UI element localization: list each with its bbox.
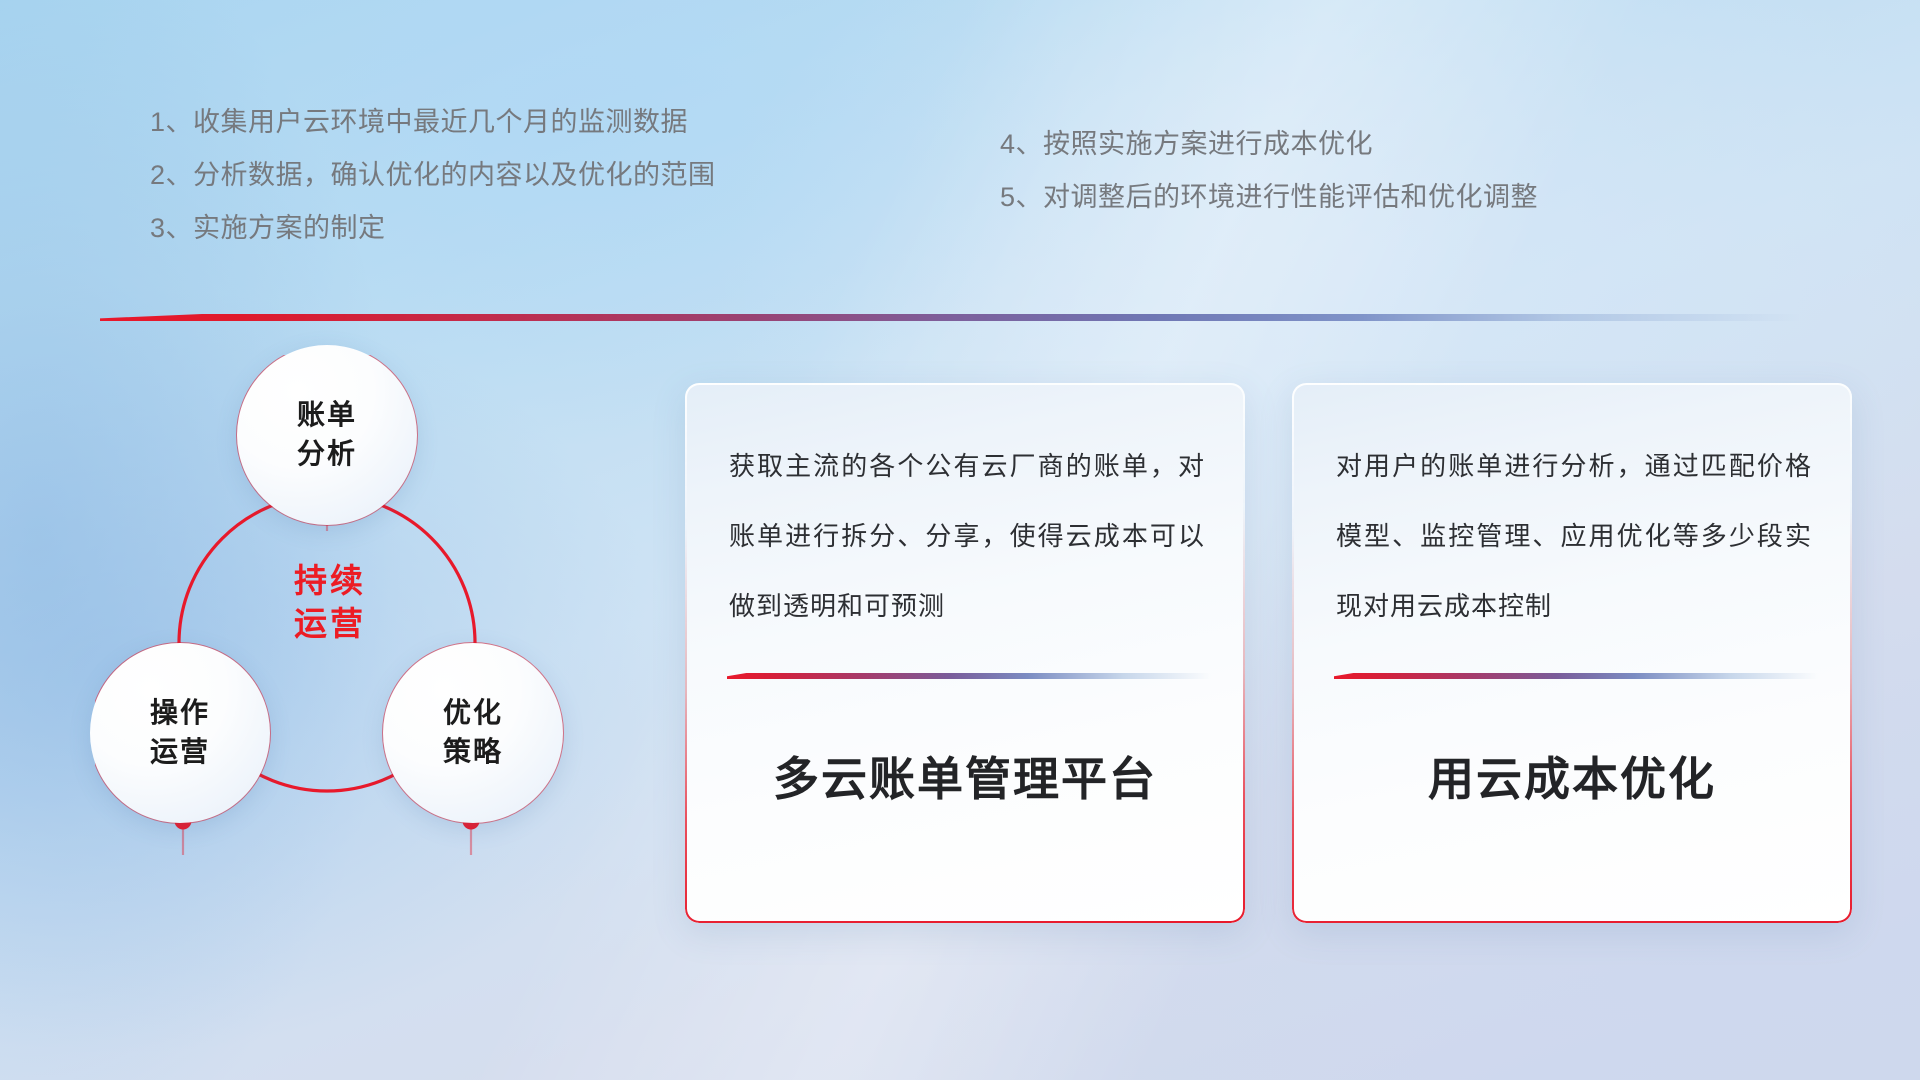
step-item: 4、按照实施方案进行成本优化 [1000,118,1760,171]
bubble-label-line2: 策略 [443,733,503,772]
bubble-optimization-strategy[interactable]: 优化 策略 [383,643,563,823]
slide-canvas: 1、收集用户云环境中最近几个月的监测数据 2、分析数据，确认优化的内容以及优化的… [0,0,1920,1080]
bubble-label-line1: 账单 [297,396,357,435]
step-item: 5、对调整后的环境进行性能评估和优化调整 [1000,171,1760,224]
card-title: 用云成本优化 [1292,743,1852,809]
bubble-label-line1: 操作 [150,694,210,733]
bubble-label-line2: 分析 [297,435,357,474]
card-divider [727,673,1211,679]
card-body-text: 对用户的账单进行分析，通过匹配价格模型、监控管理、应用优化等多少段实现对用云成本… [1336,431,1812,641]
step-item: 1、收集用户云环境中最近几个月的监测数据 [150,96,870,149]
feature-card-cost-optimization[interactable]: 对用户的账单进行分析，通过匹配价格模型、监控管理、应用优化等多少段实现对用云成本… [1292,383,1852,923]
center-label-line2: 运营 [255,603,405,646]
card-divider [1334,673,1818,679]
steps-list-left: 1、收集用户云环境中最近几个月的监测数据 2、分析数据，确认优化的内容以及优化的… [150,96,870,255]
card-title: 多云账单管理平台 [685,743,1245,809]
step-item: 3、实施方案的制定 [150,202,870,255]
bubble-billing-analysis[interactable]: 账单 分析 [237,345,417,525]
feature-card-multicloud-billing[interactable]: 获取主流的各个公有云厂商的账单，对账单进行拆分、分享，使得云成本可以做到透明和可… [685,383,1245,923]
steps-list-right: 4、按照实施方案进行成本优化 5、对调整后的环境进行性能评估和优化调整 [1000,118,1760,224]
cycle-center-label: 持续 运营 [255,560,405,646]
bubble-label-line2: 运营 [150,733,210,772]
card-body-text: 获取主流的各个公有云厂商的账单，对账单进行拆分、分享，使得云成本可以做到透明和可… [729,431,1205,641]
divider-bar [100,314,1800,321]
cycle-diagram: 账单 分析 操作 运营 优化 策略 持续 运营 [95,355,675,955]
section-divider [100,314,1800,321]
center-label-line1: 持续 [255,560,405,603]
bubble-operations[interactable]: 操作 运营 [90,643,270,823]
bubble-label-line1: 优化 [443,694,503,733]
step-item: 2、分析数据，确认优化的内容以及优化的范围 [150,149,870,202]
